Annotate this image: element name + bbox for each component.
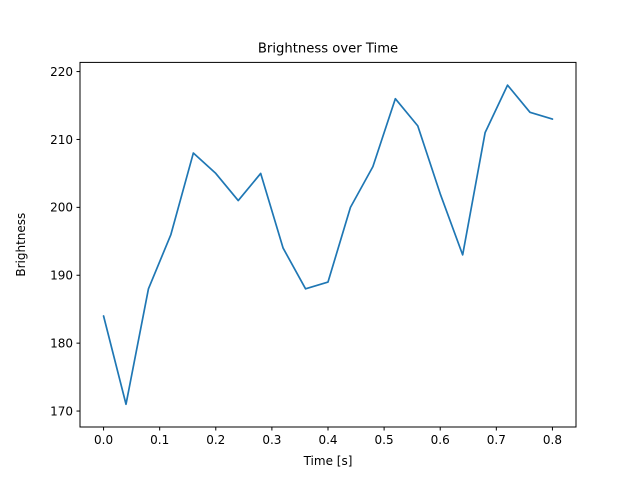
chart-title: Brightness over Time	[258, 41, 398, 56]
x-tick-label: 0.1	[150, 433, 169, 447]
plot-area-spines	[80, 62, 576, 427]
y-tick-label: 180	[50, 336, 73, 350]
x-tick-label: 0.8	[543, 433, 562, 447]
x-tick-label: 0.4	[318, 433, 337, 447]
line-chart: 0.00.10.20.30.40.50.60.70.81701801902002…	[0, 0, 640, 480]
x-tick-label: 0.7	[487, 433, 506, 447]
y-tick-label: 210	[50, 133, 73, 147]
x-axis-label: Time [s]	[303, 454, 353, 468]
y-tick-label: 220	[50, 65, 73, 79]
data-series-line	[104, 85, 553, 404]
y-axis-label: Brightness	[14, 213, 28, 277]
figure-canvas: 0.00.10.20.30.40.50.60.70.81701801902002…	[0, 0, 640, 480]
y-tick-label: 170	[50, 404, 73, 418]
y-tick-label: 190	[50, 269, 73, 283]
x-tick-label: 0.0	[94, 433, 113, 447]
y-tick-label: 200	[50, 201, 73, 215]
x-tick-label: 0.2	[206, 433, 225, 447]
x-tick-label: 0.6	[431, 433, 450, 447]
x-tick-label: 0.5	[375, 433, 394, 447]
x-tick-label: 0.3	[262, 433, 281, 447]
